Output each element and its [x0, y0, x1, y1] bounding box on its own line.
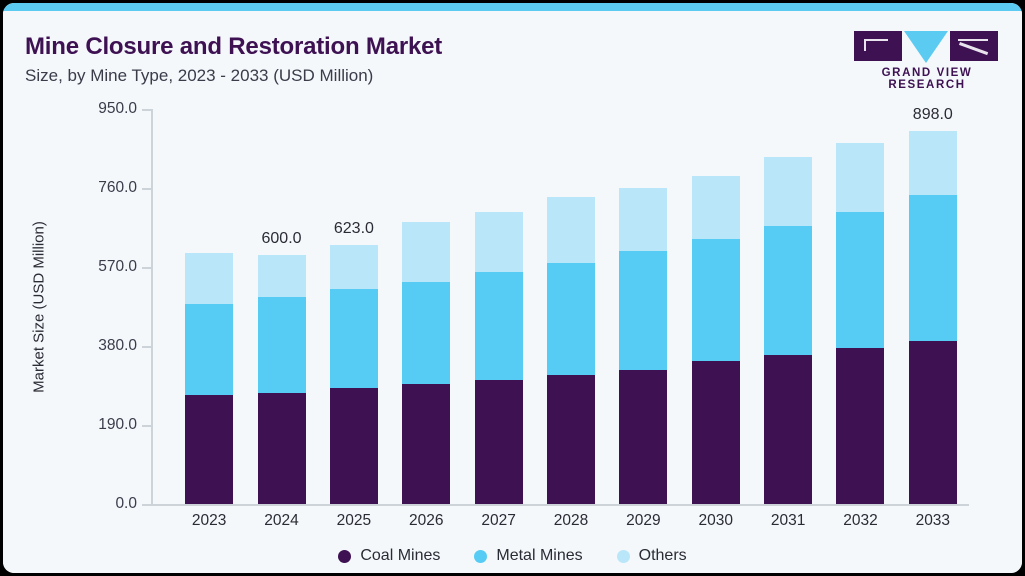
- y-tick-label: 0.0: [115, 495, 137, 513]
- y-tick-mark: [142, 109, 151, 111]
- bar-segment-others[interactable]: [547, 197, 595, 263]
- logo-triangle-icon: [904, 31, 948, 63]
- bar-segment-metal-mines[interactable]: [402, 282, 450, 384]
- y-tick-label: 760.0: [98, 179, 137, 197]
- bar-segment-coal-mines[interactable]: [836, 348, 884, 504]
- bar-value-label: 600.0: [262, 230, 302, 248]
- legend-item[interactable]: Others: [617, 547, 687, 565]
- chart-subtitle: Size, by Mine Type, 2023 - 2033 (USD Mil…: [25, 66, 373, 86]
- x-tick-label: 2033: [916, 512, 950, 530]
- bar-segment-others[interactable]: [258, 255, 306, 297]
- legend-swatch-icon: [474, 550, 487, 563]
- bar-segment-others[interactable]: [836, 143, 884, 212]
- bar-value-label: 623.0: [334, 220, 374, 238]
- top-accent-bar: [3, 3, 1025, 11]
- bar-stack[interactable]: [619, 188, 667, 504]
- y-axis-title: Market Size (USD Million): [31, 221, 48, 393]
- bar-segment-others[interactable]: [185, 253, 233, 304]
- legend-label: Metal Mines: [496, 547, 582, 565]
- x-tick-label: 2026: [409, 512, 443, 530]
- y-tick-label: 570.0: [98, 258, 137, 276]
- bar-segment-coal-mines[interactable]: [475, 380, 523, 504]
- legend-item[interactable]: Coal Mines: [338, 547, 440, 565]
- bar-segment-metal-mines[interactable]: [619, 251, 667, 370]
- legend-swatch-icon: [617, 550, 630, 563]
- bar-segment-metal-mines[interactable]: [185, 304, 233, 395]
- x-tick-label: 2032: [843, 512, 877, 530]
- bar-stack[interactable]: 898.0: [909, 131, 957, 504]
- bar-value-label: 898.0: [913, 106, 953, 124]
- chart-title: Mine Closure and Restoration Market: [25, 33, 442, 61]
- bar-stack[interactable]: [836, 143, 884, 504]
- logo-wordmark: GRAND VIEW RESEARCH: [848, 67, 1006, 91]
- bar-segment-others[interactable]: [764, 157, 812, 226]
- bar-segment-metal-mines[interactable]: [475, 272, 523, 380]
- bar-segment-coal-mines[interactable]: [258, 393, 306, 504]
- bar-segment-coal-mines[interactable]: [547, 375, 595, 504]
- bar-stack[interactable]: [692, 176, 740, 504]
- x-tick-label: 2023: [192, 512, 226, 530]
- bar-segment-others[interactable]: [330, 245, 378, 289]
- bar-segment-metal-mines[interactable]: [330, 289, 378, 388]
- bar-segment-metal-mines[interactable]: [692, 239, 740, 362]
- bar-segment-metal-mines[interactable]: [909, 195, 957, 341]
- x-tick-label: 2024: [264, 512, 298, 530]
- x-axis-line: [151, 504, 969, 506]
- logo-r-block-icon: [950, 31, 998, 61]
- legend-swatch-icon: [338, 550, 351, 563]
- bar-segment-coal-mines[interactable]: [764, 355, 812, 504]
- bar-segment-metal-mines[interactable]: [547, 263, 595, 375]
- bar-stack[interactable]: [185, 253, 233, 504]
- bar-segment-coal-mines[interactable]: [402, 384, 450, 504]
- legend-label: Others: [639, 547, 687, 565]
- x-tick-label: 2030: [698, 512, 732, 530]
- bar-stack[interactable]: [402, 222, 450, 504]
- chart-legend: Coal MinesMetal MinesOthers: [3, 547, 1022, 565]
- chart-frame: Mine Closure and Restoration Market Size…: [0, 0, 1025, 576]
- bar-segment-metal-mines[interactable]: [258, 297, 306, 393]
- logo-marks: [846, 29, 1006, 63]
- y-tick-mark: [142, 188, 151, 190]
- x-tick-label: 2029: [626, 512, 660, 530]
- bar-segment-others[interactable]: [909, 131, 957, 195]
- x-tick-label: 2027: [481, 512, 515, 530]
- x-tick-label: 2031: [771, 512, 805, 530]
- y-tick-label: 380.0: [98, 337, 137, 355]
- bar-stack[interactable]: [547, 197, 595, 504]
- y-tick-label: 190.0: [98, 416, 137, 434]
- y-tick-mark: [142, 267, 151, 269]
- bar-stack[interactable]: 600.0: [258, 255, 306, 504]
- bar-series-container: 600.0623.0898.0: [151, 109, 969, 504]
- bar-stack[interactable]: 623.0: [330, 245, 378, 504]
- bar-segment-coal-mines[interactable]: [330, 388, 378, 504]
- bar-segment-coal-mines[interactable]: [619, 370, 667, 504]
- y-tick-mark: [142, 346, 151, 348]
- plot-area: Market Size (USD Million) 0.0190.0380.05…: [151, 109, 969, 504]
- legend-label: Coal Mines: [360, 547, 440, 565]
- chart-canvas: Mine Closure and Restoration Market Size…: [3, 11, 1022, 573]
- bar-segment-others[interactable]: [692, 176, 740, 239]
- legend-item[interactable]: Metal Mines: [474, 547, 582, 565]
- y-tick-label: 950.0: [98, 100, 137, 118]
- y-tick-mark: [142, 504, 151, 506]
- brand-logo: GRAND VIEW RESEARCH: [846, 29, 1006, 87]
- bar-segment-coal-mines[interactable]: [909, 341, 957, 504]
- bar-segment-coal-mines[interactable]: [185, 395, 233, 504]
- y-tick-mark: [142, 425, 151, 427]
- bar-segment-others[interactable]: [475, 212, 523, 273]
- bar-segment-others[interactable]: [402, 222, 450, 282]
- bar-segment-metal-mines[interactable]: [764, 226, 812, 355]
- x-tick-label: 2025: [337, 512, 371, 530]
- bar-stack[interactable]: [764, 157, 812, 504]
- bar-segment-others[interactable]: [619, 188, 667, 251]
- bar-segment-coal-mines[interactable]: [692, 361, 740, 504]
- x-tick-label: 2028: [554, 512, 588, 530]
- logo-g-block-icon: [854, 31, 902, 61]
- bar-segment-metal-mines[interactable]: [836, 212, 884, 348]
- bar-stack[interactable]: [475, 212, 523, 504]
